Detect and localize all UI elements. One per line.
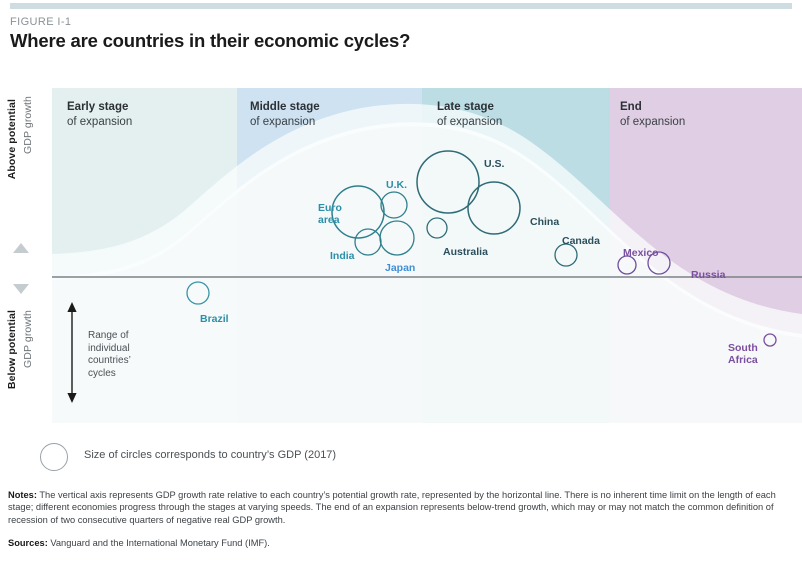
sources-body: Vanguard and the International Monetary …	[48, 538, 270, 548]
legend-circle-icon	[40, 443, 68, 471]
y-axis-below-strong: Below potential	[6, 310, 18, 389]
label-canada: Canada	[562, 235, 600, 247]
label-south-africa: SouthAfrica	[728, 342, 758, 366]
sources-label: Sources:	[8, 538, 48, 548]
figure-number: FIGURE I-1	[10, 16, 71, 28]
stage-caption-end: End of expansion	[620, 100, 685, 130]
figure-page: FIGURE I-1 Where are countries in their …	[0, 0, 802, 567]
stage-subtitle-early: of expansion	[67, 115, 132, 130]
up-triangle-icon	[13, 243, 29, 253]
stage-title-early: Early stage	[67, 100, 132, 115]
label-euro-area: Euroarea	[318, 202, 342, 226]
stage-subtitle-end: of expansion	[620, 115, 685, 130]
label-brazil: Brazil	[200, 313, 229, 325]
down-triangle-icon	[13, 284, 29, 294]
label-u-s: U.S.	[484, 158, 504, 170]
page-title: Where are countries in their economic cy…	[10, 30, 410, 52]
y-axis-above-strong: Above potential	[6, 99, 18, 179]
stage-caption-late: Late stage of expansion	[437, 100, 502, 130]
y-axis-below-sub: GDP growth	[22, 310, 34, 368]
stage-title-middle: Middle stage	[250, 100, 320, 115]
y-axis-above-sub: GDP growth	[22, 96, 34, 154]
label-russia: Russia	[691, 269, 725, 281]
notes-body: The vertical axis represents GDP growth …	[8, 490, 776, 525]
chart-legend: Size of circles corresponds to country’s…	[40, 443, 540, 471]
stage-subtitle-late: of expansion	[437, 115, 502, 130]
label-u-k: U.K.	[386, 179, 407, 191]
chart-plot-area: EuroareaU.K.IndiaJapanU.S.AustraliaChina…	[52, 88, 802, 423]
stage-title-late: Late stage	[437, 100, 502, 115]
label-mexico: Mexico	[623, 247, 659, 259]
stage-caption-early: Early stage of expansion	[67, 100, 132, 130]
notes-label: Notes:	[8, 490, 37, 500]
stage-title-end: End	[620, 100, 685, 115]
label-china: China	[530, 216, 559, 228]
figure-sources: Sources: Vanguard and the International …	[8, 537, 796, 549]
label-japan: Japan	[385, 262, 415, 274]
chart-svg	[52, 88, 802, 423]
y-axis-above-label: Above potential	[6, 96, 18, 179]
figure-notes: Notes: The vertical axis represents GDP …	[8, 489, 796, 526]
stage-subtitle-middle: of expansion	[250, 115, 320, 130]
label-australia: Australia	[443, 246, 488, 258]
range-annotation-text: Range of individual countries’ cycles	[88, 330, 131, 380]
stage-caption-middle: Middle stage of expansion	[250, 100, 320, 130]
top-rule-decoration	[10, 3, 792, 9]
legend-label: Size of circles corresponds to country’s…	[84, 449, 336, 461]
label-india: India	[330, 250, 355, 262]
y-axis: Above potential GDP growth Below potenti…	[0, 88, 52, 423]
y-axis-below-label: Below potential	[6, 310, 18, 389]
